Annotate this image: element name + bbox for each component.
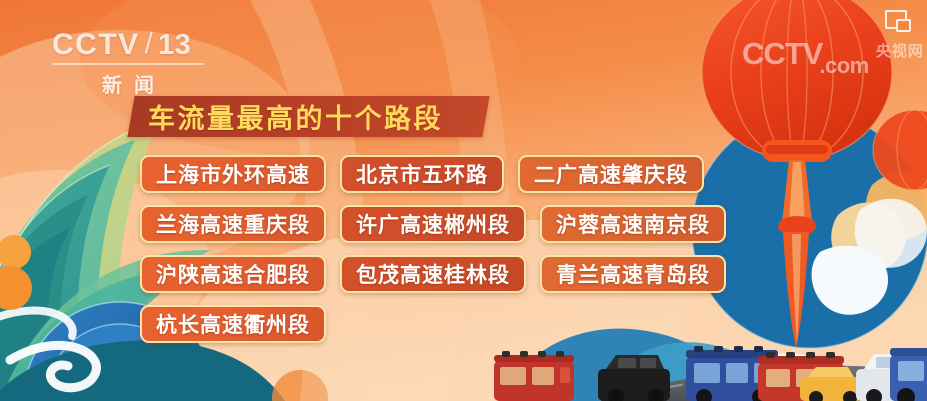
cctv-channel-number: 13 <box>158 31 191 60</box>
list-item[interactable]: 二广高速肇庆段 <box>518 155 704 193</box>
picture-in-picture-icon[interactable] <box>885 10 911 32</box>
cctv-13-logo: CCTV / 13 新闻 <box>52 30 204 98</box>
list-item[interactable]: 兰海高速重庆段 <box>140 205 326 243</box>
cctv-wordmark: CCTV <box>52 30 140 60</box>
tag-row: 兰海高速重庆段 许广高速郴州段 沪蓉高速南京段 <box>140 205 800 243</box>
tag-row: 沪陕高速合肥段 包茂高速桂林段 青兰高速青岛段 <box>140 255 800 293</box>
road-segment-list: 上海市外环高速 北京市五环路 二广高速肇庆段 兰海高速重庆段 许广高速郴州段 沪… <box>140 155 800 355</box>
list-item[interactable]: 北京市五环路 <box>340 155 504 193</box>
watermark-com: .com <box>819 55 868 77</box>
list-item[interactable]: 青兰高速青岛段 <box>540 255 726 293</box>
cctv-logo-slash: / <box>145 29 153 59</box>
list-item[interactable]: 许广高速郴州段 <box>340 205 526 243</box>
list-item[interactable]: 包茂高速桂林段 <box>340 255 526 293</box>
cctv-logo-row: CCTV / 13 <box>52 30 204 60</box>
cctv-logo-underline <box>52 63 204 65</box>
tag-row: 上海市外环高速 北京市五环路 二广高速肇庆段 <box>140 155 800 193</box>
list-item[interactable]: 沪蓉高速南京段 <box>540 205 726 243</box>
cctv-channel-name: 新闻 <box>52 69 204 98</box>
title-banner: 车流量最高的十个路段 <box>127 96 489 137</box>
watermark-chinese: 央视网 <box>876 40 924 61</box>
tag-row: 杭长高速衢州段 <box>140 305 800 343</box>
watermark-cctv: CCTV <box>742 38 822 69</box>
broadcast-graphic: CCTV / 13 新闻 CCTV .com 央视网 车流量最高的十个路段 上海… <box>0 0 927 401</box>
cctv-com-watermark: CCTV .com 央视网 <box>742 38 924 69</box>
list-item[interactable]: 沪陕高速合肥段 <box>140 255 326 293</box>
watermark-wordmark: CCTV .com <box>742 38 872 69</box>
page-title: 车流量最高的十个路段 <box>148 97 443 136</box>
list-item[interactable]: 上海市外环高速 <box>140 155 326 193</box>
pip-inner-frame <box>896 19 911 32</box>
list-item[interactable]: 杭长高速衢州段 <box>140 305 326 343</box>
